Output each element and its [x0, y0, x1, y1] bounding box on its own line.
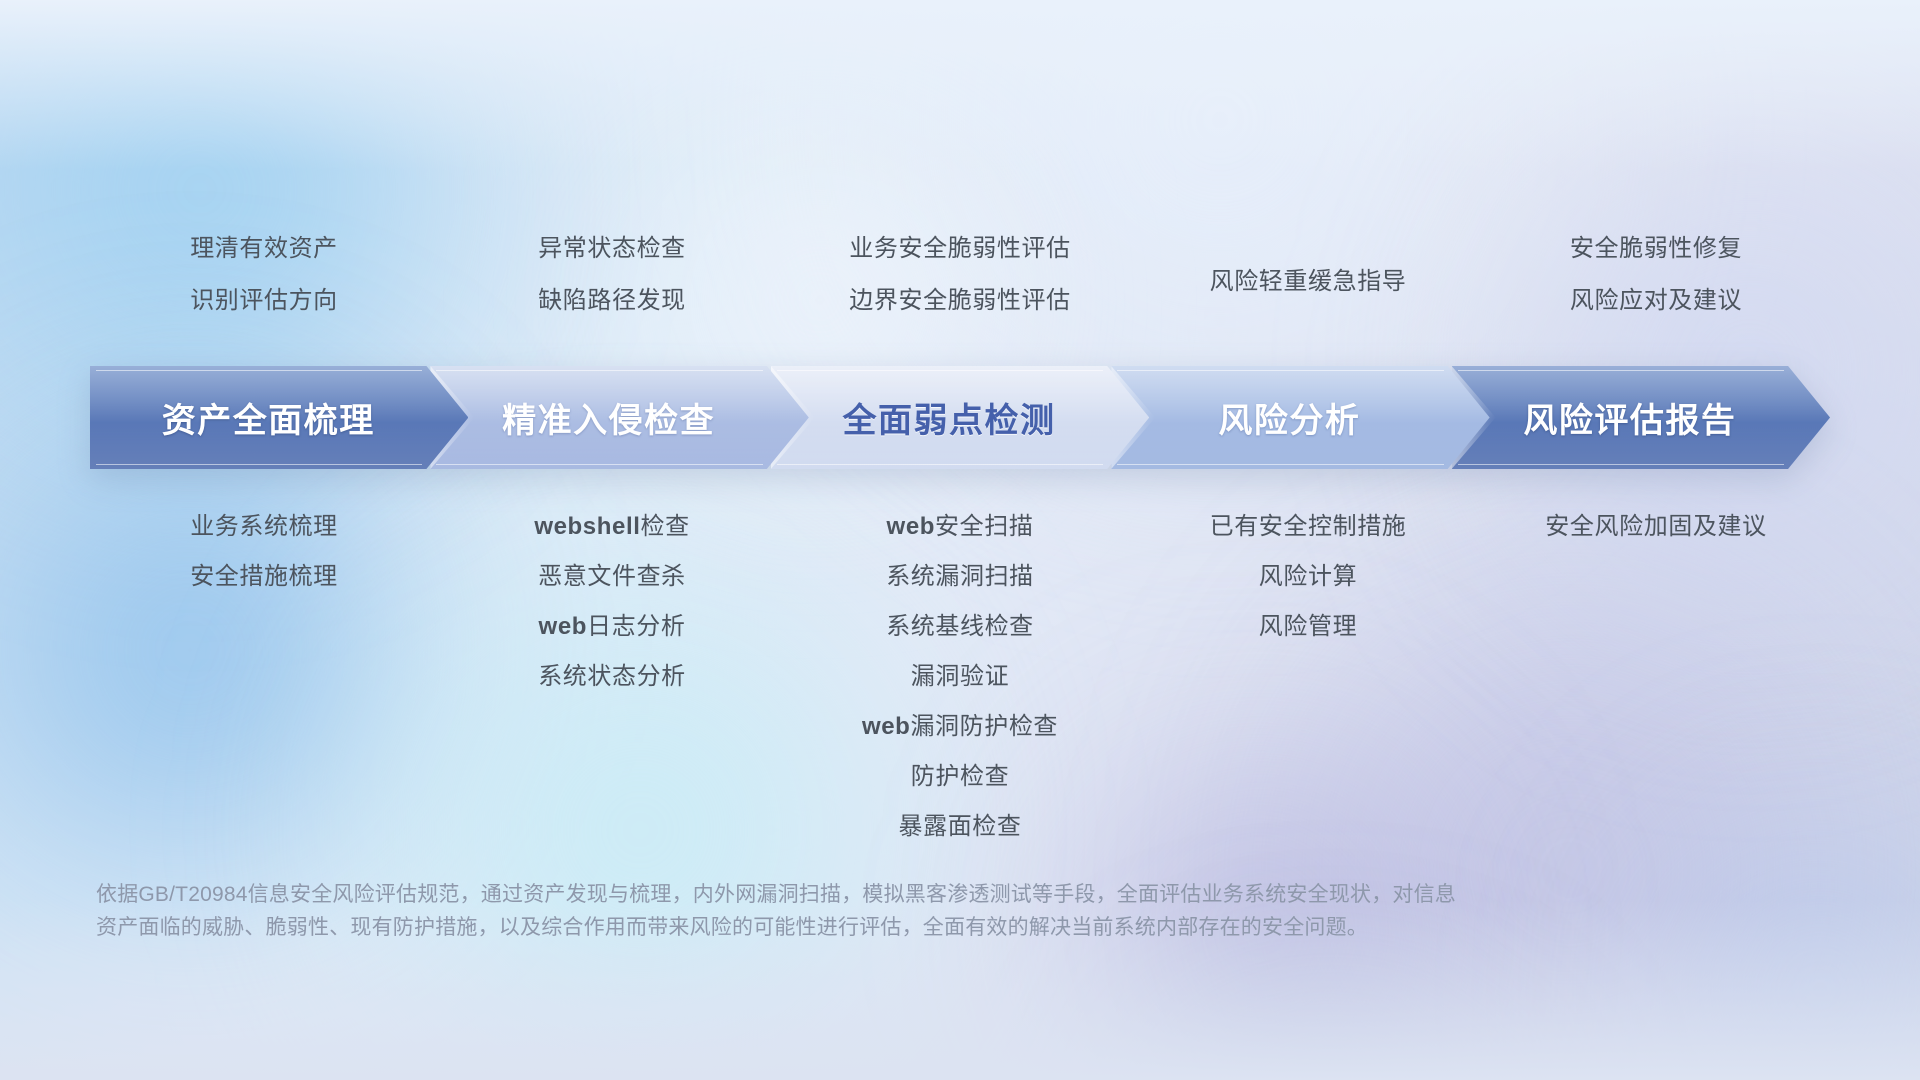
- top_notes-column-5: 安全脆弱性修复风险应对及建议: [1482, 237, 1830, 313]
- top_notes-column-4: 风险轻重缓急指导: [1134, 237, 1482, 313]
- top-note-row: 理清有效资产识别评估方向异常状态检查缺陷路径发现业务安全脆弱性评估边界安全脆弱性…: [90, 237, 1830, 313]
- bottom_notes-item: web漏洞防护检查: [862, 715, 1058, 739]
- top_notes-column-2: 异常状态检查缺陷路径发现: [438, 237, 786, 313]
- top_notes-item: 安全脆弱性修复: [1570, 237, 1742, 261]
- chevron-highlight-top: [1458, 370, 1784, 371]
- top_notes-item: 识别评估方向: [190, 289, 338, 313]
- bottom_notes-item: 防护检查: [911, 765, 1009, 789]
- bottom_notes-item: web安全扫描: [887, 515, 1034, 539]
- top_notes-item: 理清有效资产: [190, 237, 338, 261]
- bottom_notes-item: 系统基线检查: [886, 615, 1034, 639]
- bottom_notes-item: 暴露面检查: [899, 815, 1022, 839]
- stage-chevron-4[interactable]: 风险分析: [1111, 366, 1489, 469]
- stage-chevron-1[interactable]: 资产全面梳理: [90, 366, 468, 469]
- stage-chevron-5[interactable]: 风险评估报告: [1452, 366, 1830, 469]
- stage-label: 风险评估报告: [1523, 393, 1758, 442]
- top_notes-item: 缺陷路径发现: [538, 289, 686, 313]
- top_notes-item: 边界安全脆弱性评估: [849, 289, 1070, 313]
- chevron-highlight-top: [96, 370, 422, 371]
- footer-line-2: 资产面临的威胁、脆弱性、现有防护措施，以及综合作用而带来风险的可能性进行评估，全…: [96, 911, 1656, 944]
- chevron-highlight-bottom: [1117, 464, 1443, 465]
- bottom_notes-item: 风险计算: [1259, 565, 1357, 589]
- top_notes-item: 风险应对及建议: [1570, 289, 1742, 313]
- bottom_notes-item: 已有安全控制措施: [1210, 515, 1407, 539]
- top_notes-item: 异常状态检查: [538, 237, 686, 261]
- stage-label: 精准入侵检查: [502, 393, 737, 442]
- bottom_notes-column-4: 已有安全控制措施风险计算风险管理: [1134, 515, 1482, 639]
- bottom_notes-item: 风险管理: [1259, 615, 1357, 639]
- top_notes-column-1: 理清有效资产识别评估方向: [90, 237, 438, 313]
- chevron-highlight-bottom: [436, 464, 762, 465]
- bottom_notes-item: 安全风险加固及建议: [1545, 515, 1766, 539]
- stage-label: 资产全面梳理: [162, 393, 397, 442]
- stage-label: 全面弱点检测: [843, 393, 1078, 442]
- bottom_notes-item: 业务系统梳理: [190, 515, 338, 539]
- chevron-highlight-bottom: [1458, 464, 1784, 465]
- top_notes-column-3: 业务安全脆弱性评估边界安全脆弱性评估: [786, 237, 1134, 313]
- process-diagram: 理清有效资产识别评估方向异常状态检查缺陷路径发现业务安全脆弱性评估边界安全脆弱性…: [0, 0, 1920, 1080]
- bottom_notes-item: 恶意文件查杀: [538, 565, 686, 589]
- bottom_notes-column-3: web安全扫描系统漏洞扫描系统基线检查漏洞验证web漏洞防护检查防护检查暴露面检…: [786, 515, 1134, 839]
- bottom_notes-column-1: 业务系统梳理安全措施梳理: [90, 515, 438, 589]
- chevron-highlight-bottom: [777, 464, 1103, 465]
- chevron-highlight-top: [777, 370, 1103, 371]
- footer-line-1: 依据GB/T20984信息安全风险评估规范，通过资产发现与梳理，内外网漏洞扫描，…: [96, 878, 1656, 911]
- chevron-highlight-top: [1117, 370, 1443, 371]
- top_notes-item: 业务安全脆弱性评估: [849, 237, 1070, 261]
- bottom_notes-item: webshell检查: [534, 515, 689, 539]
- stage-chevron-3[interactable]: 全面弱点检测: [771, 366, 1149, 469]
- chevron-highlight-bottom: [96, 464, 422, 465]
- footer-description: 依据GB/T20984信息安全风险评估规范，通过资产发现与梳理，内外网漏洞扫描，…: [96, 878, 1656, 944]
- bottom_notes-item: web日志分析: [539, 615, 686, 639]
- bottom_notes-item: 系统漏洞扫描: [886, 565, 1034, 589]
- bottom_notes-column-2: webshell检查恶意文件查杀web日志分析系统状态分析: [438, 515, 786, 689]
- bottom_notes-item: 系统状态分析: [538, 665, 686, 689]
- stage-chevron-2[interactable]: 精准入侵检查: [430, 366, 808, 469]
- bottom_notes-item: 安全措施梳理: [190, 565, 338, 589]
- bottom_notes-column-5: 安全风险加固及建议: [1482, 515, 1830, 539]
- bottom_notes-item: 漏洞验证: [911, 665, 1009, 689]
- bottom-note-row: 业务系统梳理安全措施梳理webshell检查恶意文件查杀web日志分析系统状态分…: [90, 515, 1830, 839]
- chevron-highlight-top: [436, 370, 762, 371]
- stage-chevron-banner: 资产全面梳理精准入侵检查全面弱点检测风险分析风险评估报告: [90, 366, 1830, 469]
- stage-label: 风险分析: [1218, 393, 1382, 442]
- top_notes-item: 风险轻重缓急指导: [1210, 270, 1407, 294]
